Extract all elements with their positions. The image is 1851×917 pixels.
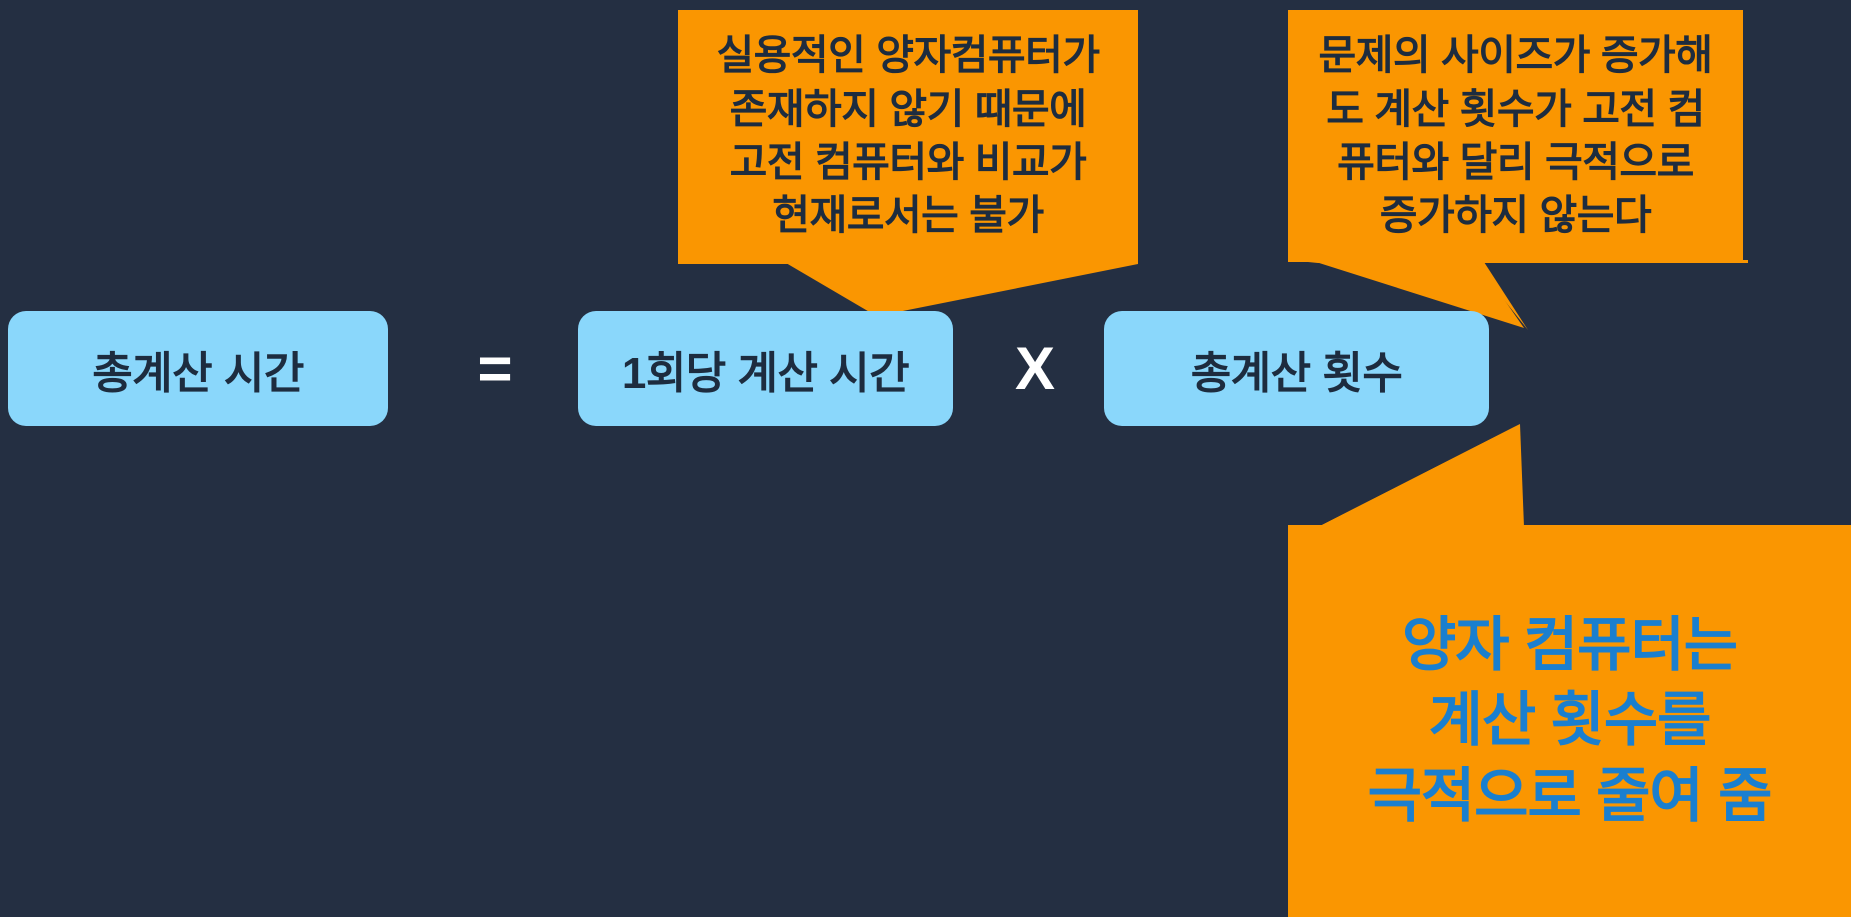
- callout-right-note: 문제의 사이즈가 증가해 도 계산 횟수가 고전 컴 퓨터와 달리 극적으로 증…: [1288, 10, 1743, 262]
- term-label-time-per-run: 1회당 계산 시간: [622, 337, 909, 401]
- callout-left-tail-icon: [678, 260, 1138, 318]
- equation-row: 총계산 시간 = 1회당 계산 시간 X 총계산 횟수: [0, 311, 1851, 426]
- term-box-total-count[interactable]: 총계산 횟수: [1104, 311, 1489, 426]
- equals-operator: =: [440, 311, 550, 426]
- term-box-total-time[interactable]: 총계산 시간: [8, 311, 388, 426]
- callout-bottom-tail-icon: [1288, 424, 1608, 529]
- term-box-time-per-run[interactable]: 1회당 계산 시간: [578, 311, 953, 426]
- term-label-total-time: 총계산 시간: [92, 337, 304, 401]
- multiply-operator: X: [990, 311, 1080, 426]
- callout-right-note-text: 문제의 사이즈가 증가해 도 계산 횟수가 고전 컴 퓨터와 달리 극적으로 증…: [1319, 29, 1713, 242]
- callout-bottom-note-text: 양자 컴퓨터는 계산 횟수를 극적으로 줄여 줌: [1368, 608, 1772, 835]
- diagram-canvas: 실용적인 양자컴퓨터가 존재하지 않기 때문에 고전 컴퓨터와 비교가 현재로서…: [0, 0, 1851, 917]
- callout-left-note-text: 실용적인 양자컴퓨터가 존재하지 않기 때문에 고전 컴퓨터와 비교가 현재로서…: [716, 29, 1099, 242]
- term-label-total-count: 총계산 횟수: [1191, 337, 1403, 401]
- callout-bottom-note: 양자 컴퓨터는 계산 횟수를 극적으로 줄여 줌: [1288, 525, 1851, 917]
- callout-left-note: 실용적인 양자컴퓨터가 존재하지 않기 때문에 고전 컴퓨터와 비교가 현재로서…: [678, 10, 1138, 262]
